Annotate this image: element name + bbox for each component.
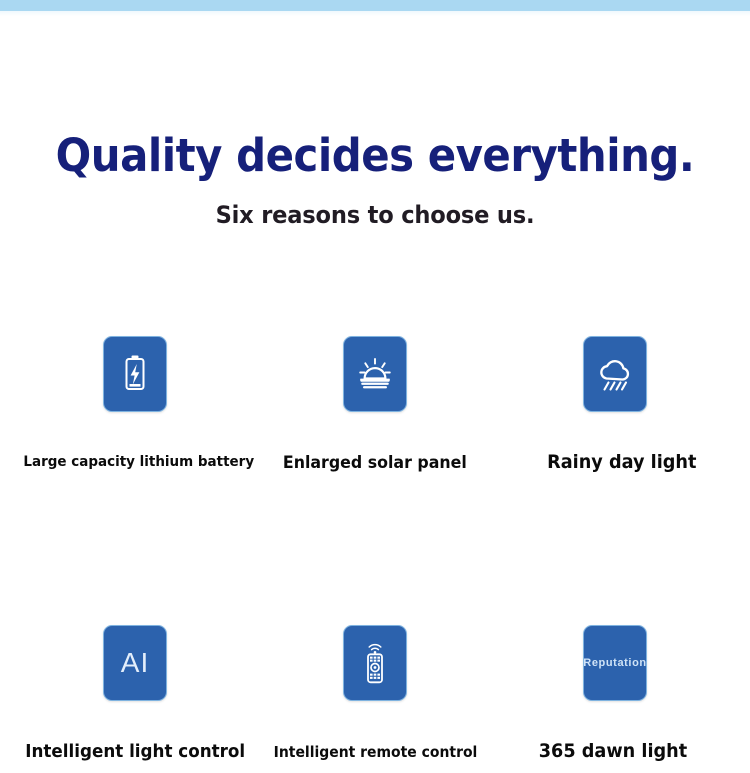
feature-label: Large capacity lithium battery [23,454,254,470]
top-accent-fade [0,11,750,16]
battery-charging-icon [120,354,150,394]
feature-icon-tile: AI [103,625,167,701]
feature-item-dawn-light[interactable]: Reputation 365 dawn light [490,625,740,762]
feature-icon-tile [583,336,647,412]
reputation-text-icon: Reputation [583,657,646,669]
feature-label: Enlarged solar panel [283,453,467,473]
feature-row-1: Large capacity lithium battery [0,336,750,473]
feature-label: Intelligent light control [25,741,245,762]
feature-icon-tile [343,625,407,701]
remote-control-icon [360,641,390,685]
rain-cloud-icon [595,355,635,393]
feature-item-rainy-day[interactable]: Rainy day light [490,336,740,473]
feature-row-2: AI Intelligent light control [0,625,750,762]
feature-label: 365 dawn light [539,740,687,762]
feature-icon-tile [343,336,407,412]
page-subtitle: Six reasons to choose us. [23,179,728,229]
page-title: Quality decides everything. [26,132,724,179]
feature-item-solar-panel[interactable]: Enlarged solar panel [250,336,500,473]
feature-icon-tile [103,336,167,412]
feature-item-battery[interactable]: Large capacity lithium battery [10,336,260,473]
solar-panel-sun-icon [356,357,394,391]
heading-block: Quality decides everything. Six reasons … [0,132,750,229]
ai-text-icon: AI [121,647,149,679]
feature-icon-tile: Reputation [583,625,647,701]
feature-grid: Large capacity lithium battery [0,336,750,762]
feature-item-remote-control[interactable]: Intelligent remote control [250,625,500,762]
feature-label: Rainy day light [547,451,696,473]
top-accent-band [0,0,750,11]
feature-label: Intelligent remote control [273,743,477,761]
feature-item-light-control[interactable]: AI Intelligent light control [10,625,260,762]
